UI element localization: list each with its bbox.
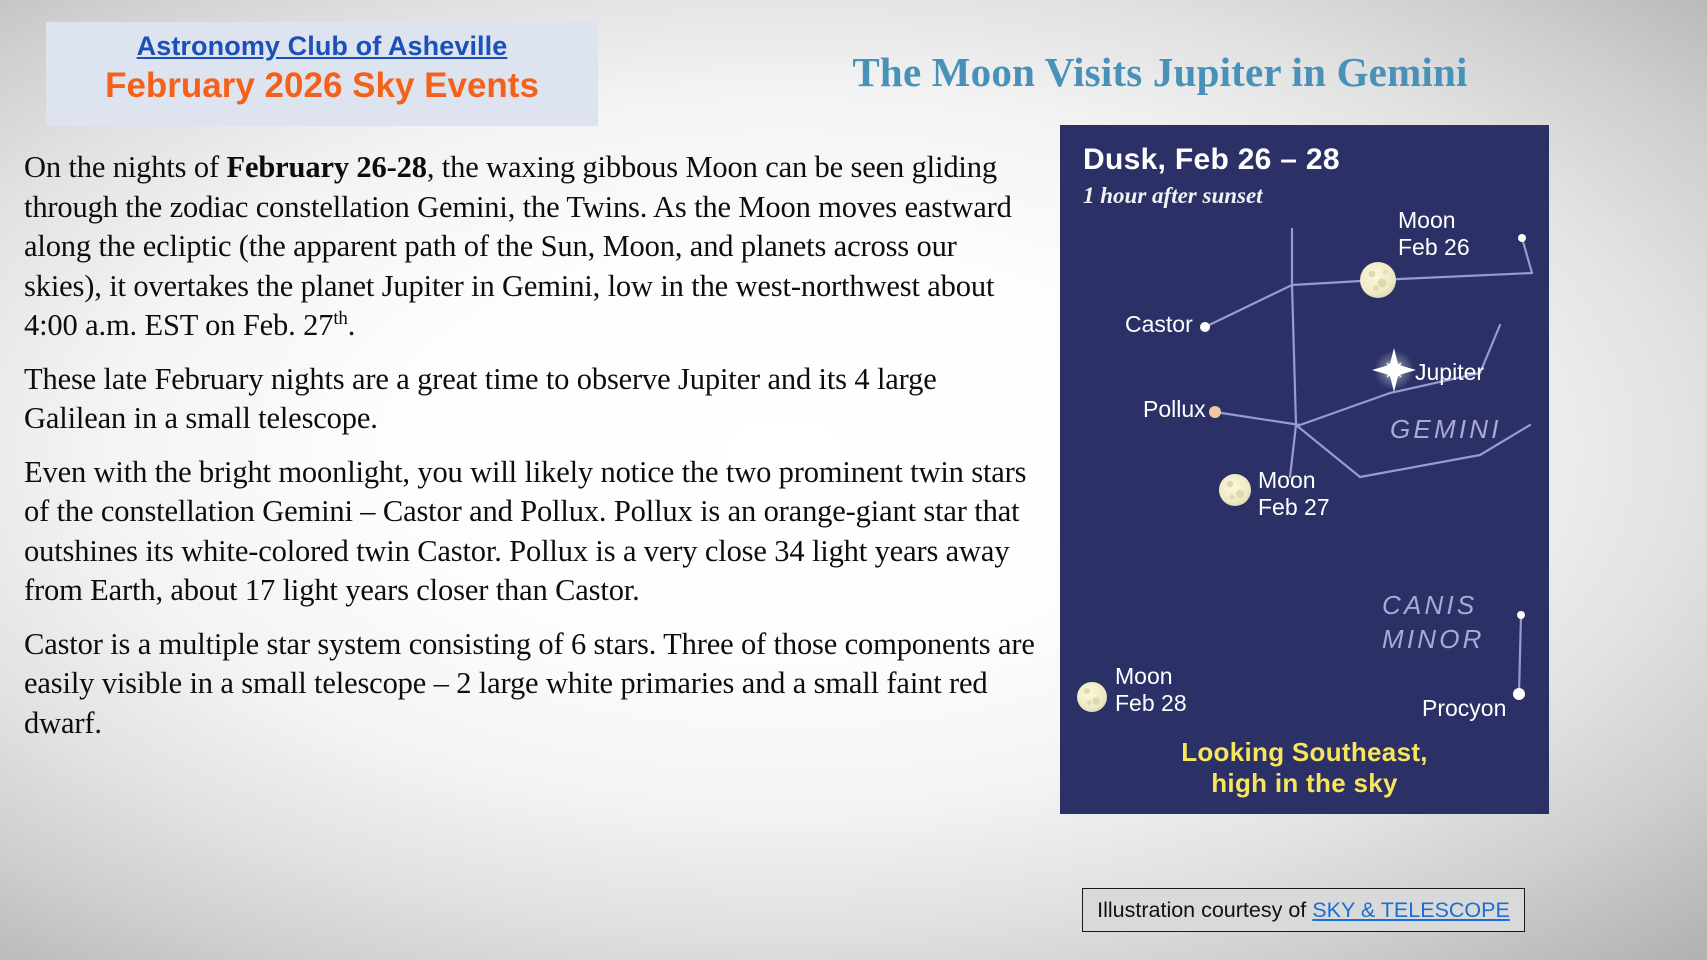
label-moon-feb-26-line2: Feb 26 (1398, 234, 1470, 261)
p1-dates-bold: February 26-28 (226, 150, 426, 184)
field-star-dot-canis (1517, 611, 1525, 619)
p1-ordinal-suffix: th (333, 308, 347, 329)
label-moon-feb-27-line1: Moon (1258, 467, 1316, 494)
paragraph-1: On the nights of February 26-28, the wax… (24, 148, 1039, 346)
looking-direction-note: Looking Southeast, high in the sky (1060, 737, 1549, 799)
label-jupiter: Jupiter (1415, 359, 1484, 386)
p1-seg-1: On the nights of (24, 150, 226, 184)
looking-note-line2: high in the sky (1060, 768, 1549, 799)
label-canis-minor-line1: CANIS (1382, 588, 1477, 622)
procyon-star-dot (1513, 688, 1525, 700)
slide-canvas: Astronomy Club of Asheville February 202… (0, 0, 1707, 960)
sky-and-telescope-link[interactable]: SKY & TELESCOPE (1312, 898, 1510, 923)
body-copy: On the nights of February 26-28, the wax… (24, 148, 1039, 757)
label-gemini: GEMINI (1390, 412, 1502, 446)
chart-subhead: 1 hour after sunset (1083, 183, 1263, 209)
label-castor: Castor (1125, 311, 1193, 338)
label-pollux: Pollux (1143, 396, 1206, 423)
credit-prefix: Illustration courtesy of (1097, 898, 1306, 923)
sky-chart-panel: Dusk, Feb 26 – 28 1 hour after sunset Mo… (1060, 125, 1549, 814)
label-procyon: Procyon (1422, 695, 1506, 722)
chart-headline: Dusk, Feb 26 – 28 (1083, 143, 1340, 177)
p1-seg-5: . (348, 308, 355, 342)
club-banner: Astronomy Club of Asheville February 202… (46, 22, 598, 126)
pollux-star-dot (1209, 406, 1221, 418)
moon-feb-26-glyph (1360, 262, 1396, 298)
paragraph-2: These late February nights are a great t… (24, 360, 1039, 439)
astronomy-club-link[interactable]: Astronomy Club of Asheville (137, 29, 508, 64)
canis-minor-lines (1519, 615, 1521, 694)
field-star-dot-upper (1518, 234, 1526, 242)
paragraph-4: Castor is a multiple star system consist… (24, 625, 1039, 744)
illustration-credit-box: Illustration courtesy of SKY & TELESCOPE (1082, 888, 1525, 932)
label-canis-minor-line2: MINOR (1382, 622, 1485, 656)
banner-subtitle: February 2026 Sky Events (46, 65, 598, 106)
label-moon-feb-26-line1: Moon (1398, 207, 1456, 234)
label-moon-feb-28-line2: Feb 28 (1115, 690, 1187, 717)
page-title: The Moon Visits Jupiter in Gemini (640, 48, 1680, 96)
moon-feb-28-glyph (1077, 682, 1107, 712)
jupiter-star-burst (1372, 348, 1416, 392)
castor-star-dot (1200, 322, 1210, 332)
label-moon-feb-27-line2: Feb 27 (1258, 494, 1330, 521)
looking-note-line1: Looking Southeast, (1060, 737, 1549, 768)
moon-feb-27-glyph (1219, 474, 1251, 506)
paragraph-3: Even with the bright moonlight, you will… (24, 453, 1039, 611)
label-moon-feb-28-line1: Moon (1115, 663, 1173, 690)
